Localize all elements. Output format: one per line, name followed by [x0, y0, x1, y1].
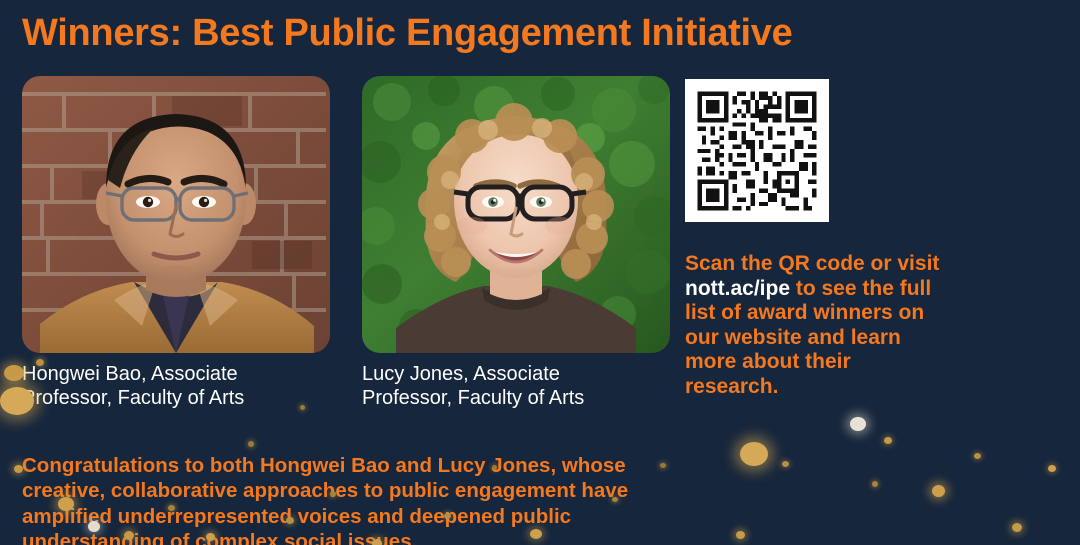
confetti-fleck — [248, 441, 254, 447]
qr-url[interactable]: nott.ac/ipe — [685, 277, 790, 300]
qr-code-card[interactable] — [685, 79, 829, 222]
confetti-fleck — [884, 437, 892, 444]
portrait-image-lucy-jones — [362, 76, 670, 353]
confetti-fleck — [850, 417, 866, 431]
page-title: Winners: Best Public Engagement Initiati… — [22, 12, 792, 55]
confetti-fleck — [932, 485, 945, 497]
winner-caption-hongwei-bao: Hongwei Bao, Associate Professor, Facult… — [22, 362, 244, 410]
winner-photo-lucy-jones — [362, 76, 670, 353]
confetti-fleck — [974, 453, 981, 459]
confetti-fleck — [740, 442, 768, 466]
congratulations-blurb: Congratulations to both Hongwei Bao and … — [22, 453, 662, 545]
confetti-fleck — [1048, 465, 1056, 472]
confetti-fleck — [1012, 523, 1022, 532]
confetti-fleck — [736, 531, 745, 539]
qr-code-icon — [693, 87, 821, 215]
qr-instructions: Scan the QR code or visit nott.ac/ipe to… — [685, 252, 941, 399]
confetti-fleck — [872, 481, 878, 487]
winner-caption-lucy-jones: Lucy Jones, Associate Professor, Faculty… — [362, 362, 584, 410]
award-announcement-slide: Winners: Best Public Engagement Initiati… — [0, 0, 1080, 545]
confetti-fleck — [782, 461, 789, 467]
confetti-fleck — [300, 405, 305, 410]
qr-instructions-before: Scan the QR code or visit — [685, 252, 939, 275]
portrait-image-hongwei-bao — [22, 76, 330, 353]
confetti-fleck — [4, 365, 24, 381]
winner-photo-hongwei-bao — [22, 76, 330, 353]
